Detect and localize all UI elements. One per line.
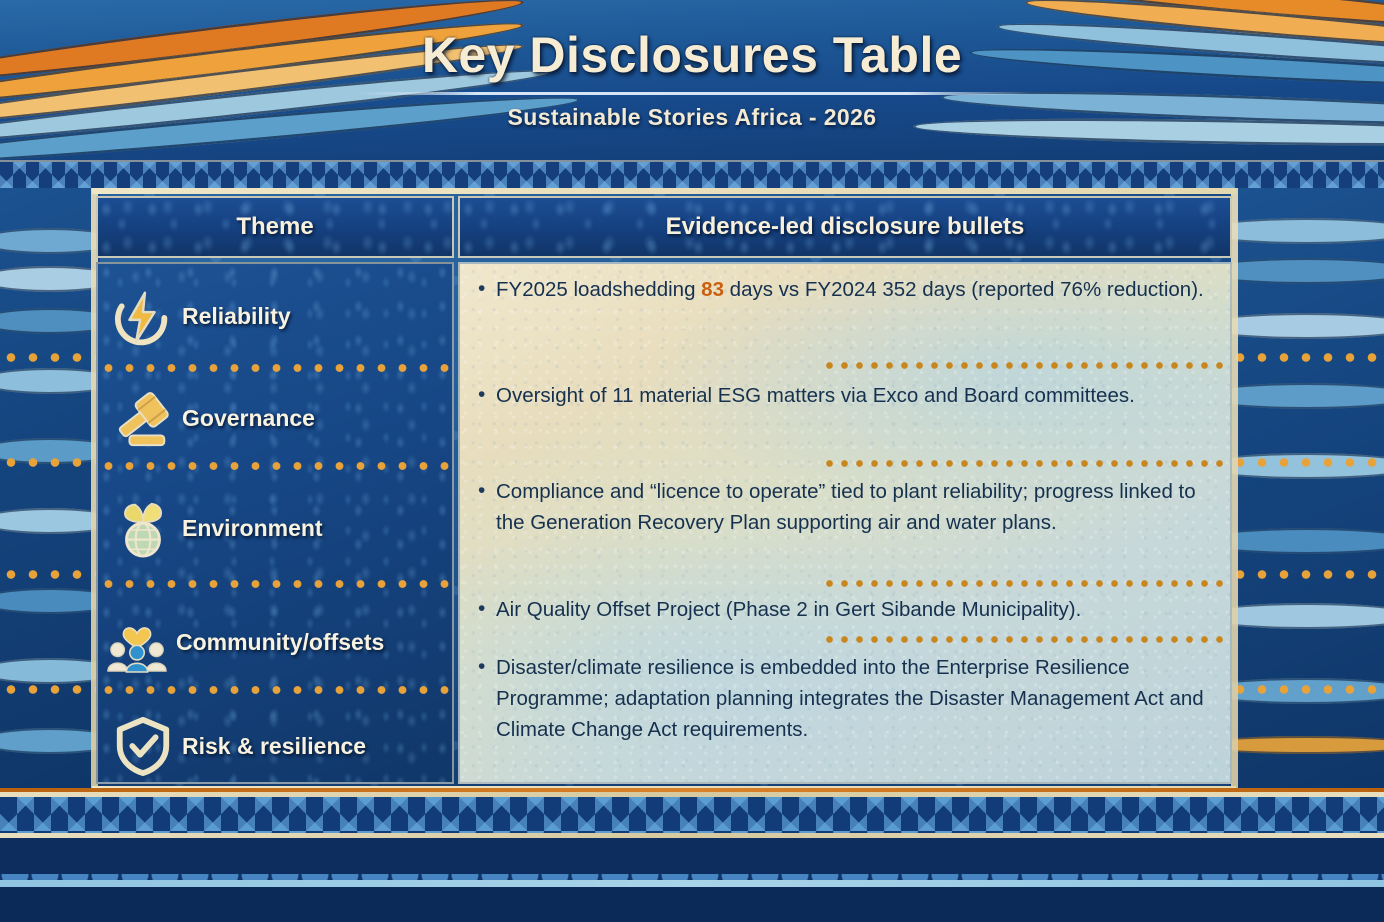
bullet-marker: • [478,652,496,682]
bullet-text: Compliance and “licence to operate” tied… [496,476,1208,538]
bullet-text: Disaster/climate resilience is embedded … [496,652,1208,745]
footer-blue-rule [0,880,1384,887]
bullet-divider [822,362,1232,369]
table-top-frame [92,188,1236,194]
row-divider [98,686,454,694]
community-heart-icon [106,611,168,673]
footer-base-band [0,887,1384,922]
bullet-marker: • [478,594,496,624]
bullet-cell[interactable]: • Disaster/climate resilience is embedde… [460,638,1230,758]
header-banner: Key Disclosures Table Sustainable Storie… [0,0,1384,160]
row-divider [98,364,454,372]
right-decorative-panel [1229,188,1384,788]
row-divider [98,462,454,470]
sprout-globe-icon [112,497,174,559]
column-header-theme: Theme [96,196,454,258]
bullet-divider [822,636,1232,643]
disclosures-table: Theme Evidence-led disclosure bullets Re… [96,196,1232,784]
column-header-bullets: Evidence-led disclosure bullets [458,196,1232,258]
theme-label: Risk & resilience [182,733,366,760]
page-subtitle: Sustainable Stories Africa - 2026 [0,104,1384,131]
lightning-bolt-icon [112,285,174,347]
bullet-text: FY2025 loadshedding 83 days vs FY2024 35… [496,274,1204,305]
theme-label: Community/offsets [176,629,384,656]
theme-label: Environment [182,515,323,542]
bullet-highlight-value: 83 [701,278,724,301]
footer-cream-rule-mid [0,833,1384,838]
bullet-text: Air Quality Offset Project (Phase 2 in G… [496,594,1081,625]
table-row[interactable]: Governance [98,368,452,468]
bullet-marker: • [478,380,496,410]
bullet-divider [822,460,1232,467]
page-title: Key Disclosures Table [0,26,1384,84]
table-row[interactable]: Environment [98,468,452,588]
bullet-text-post: days vs FY2024 352 days (reported 76% re… [724,278,1204,301]
shield-check-icon [112,715,174,777]
table-row[interactable]: Reliability [98,264,452,368]
bullet-divider [822,580,1232,587]
zigzag-border-band [0,160,1384,190]
infographic-canvas: Key Disclosures Table Sustainable Storie… [0,0,1384,922]
table-row[interactable]: Community/offsets [98,588,452,696]
bullet-cell[interactable]: • FY2025 loadshedding 83 days vs FY2024 … [460,264,1230,364]
table-body: Reliability [96,262,1232,784]
theme-label: Reliability [182,303,291,330]
theme-label: Governance [182,405,315,432]
column-header-bullets-label: Evidence-led disclosure bullets [666,213,1025,241]
theme-column: Reliability [96,262,454,784]
bullet-marker: • [478,274,496,304]
gavel-icon [112,387,174,449]
bullet-text: Oversight of 11 material ESG matters via… [496,380,1135,411]
table-row[interactable]: Risk & resilience [98,696,452,784]
column-header-theme-label: Theme [236,213,313,241]
row-divider [98,580,454,588]
bullet-text-pre: FY2025 loadshedding [496,278,701,301]
bullet-marker: • [478,476,496,506]
footer-decorative-bands [0,788,1384,922]
title-divider-rule [355,92,1029,95]
bullet-cell[interactable]: • Air Quality Offset Project (Phase 2 in… [460,582,1230,638]
table-header-row: Theme Evidence-led disclosure bullets [96,196,1232,258]
bullet-cell[interactable]: • Compliance and “licence to operate” ti… [460,462,1230,582]
footer-diamond-band [0,797,1384,833]
right-panel-rule [1231,188,1238,788]
bullet-cell[interactable]: • Oversight of 11 material ESG matters v… [460,364,1230,462]
left-decorative-panel [0,188,100,788]
bullets-column: • FY2025 loadshedding 83 days vs FY2024 … [458,262,1232,784]
